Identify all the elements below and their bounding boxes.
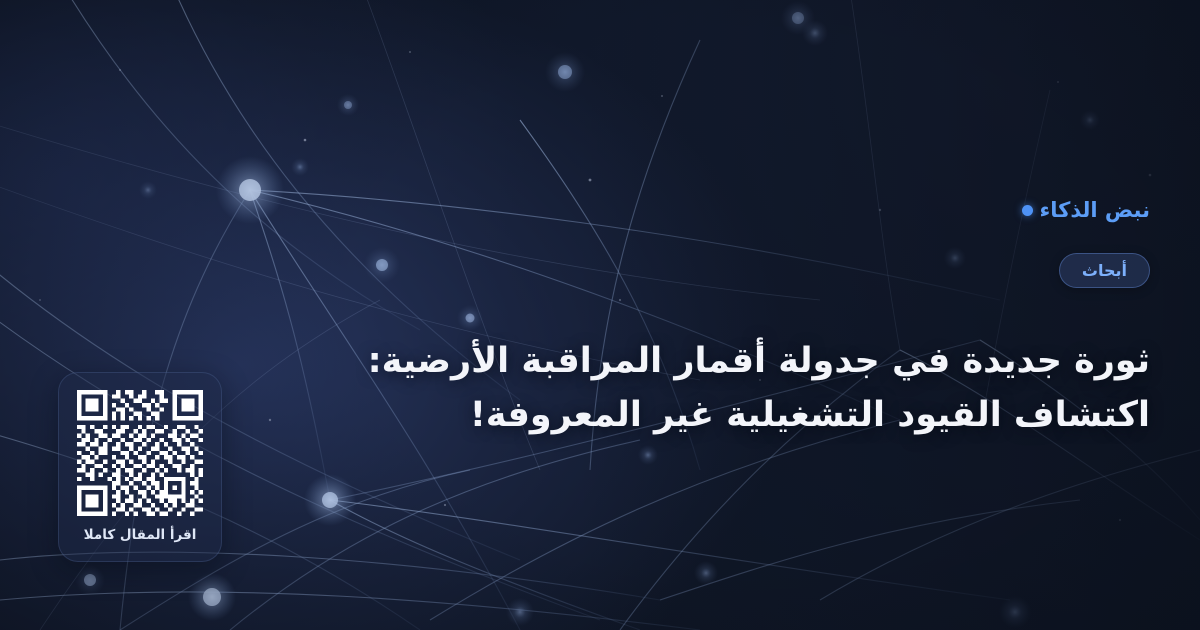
page-title: ثورة جديدة في جدولة أقمار المراقبة الأرض… bbox=[350, 335, 1150, 442]
headline-line-1: ثورة جديدة في جدولة أقمار المراقبة الأرض… bbox=[350, 335, 1150, 389]
brand-name: نبض الذكاء bbox=[1040, 198, 1150, 222]
headline-line-2: اكتشاف القيود التشغيلية غير المعروفة! bbox=[350, 389, 1150, 443]
category-badge-label: أبحاث bbox=[1082, 261, 1127, 280]
qr-card-caption: اقرأ المقال كاملا bbox=[84, 527, 197, 543]
category-badge[interactable]: أبحاث bbox=[1059, 253, 1150, 288]
og-share-card: نبض الذكاء أبحاث ثورة جديدة في جدولة أقم… bbox=[0, 0, 1200, 630]
brand-dot-icon bbox=[1022, 205, 1033, 216]
qr-card[interactable]: اقرأ المقال كاملا bbox=[58, 372, 222, 562]
brand-lockup: نبض الذكاء bbox=[1022, 198, 1150, 222]
qr-code-icon[interactable] bbox=[77, 390, 203, 516]
